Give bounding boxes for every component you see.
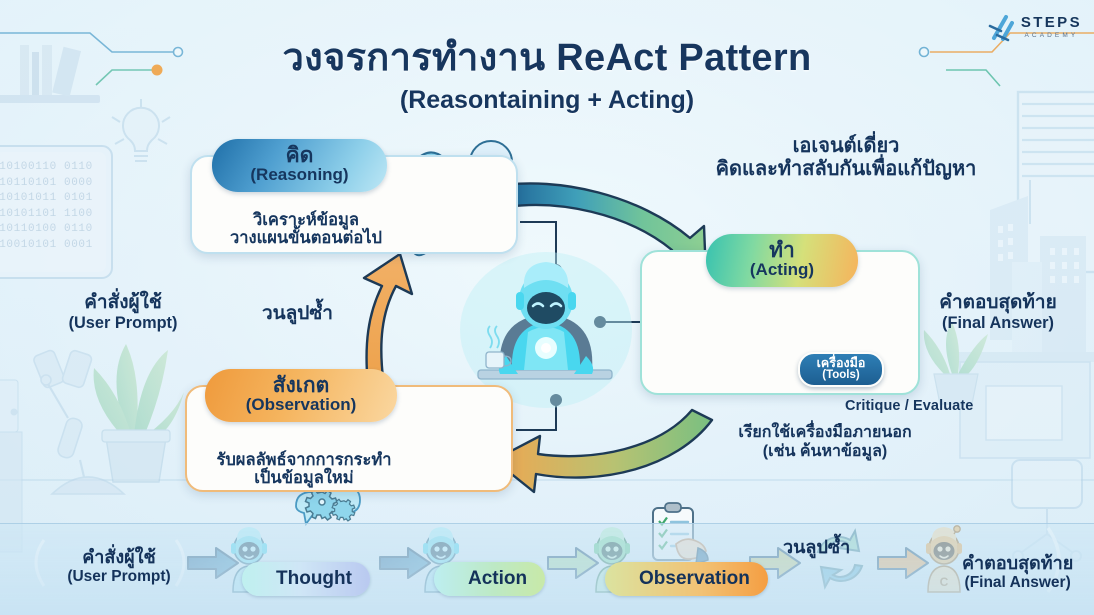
flow-user-prompt-th: คำสั่งผู้ใช้ — [56, 548, 182, 568]
flow-user-prompt: คำสั่งผู้ใช้ (User Prompt) — [56, 548, 182, 585]
annotation-single-agent-line1: เอเจนต์เดี่ยว — [660, 135, 1032, 158]
annotation-final-answer-en: (Final Answer) — [908, 314, 1088, 333]
page-title: วงจรการทำงาน ReAct Pattern — [0, 26, 1094, 87]
tools-badge-en: (Tools) — [804, 370, 878, 382]
annotation-single-agent-line2: คิดและทำสลับกันเพื่อแก้ปัญหา — [660, 158, 1032, 181]
annotation-critique: Critique / Evaluate — [845, 398, 1045, 415]
node-desc-observation: รับผลลัพธ์จากการกระทำ เป็นข้อมูลใหม่ — [193, 451, 415, 488]
node-desc-reasoning-line1: วิเคราะห์ข้อมูล — [206, 211, 406, 229]
flow-strip: คำสั่งผู้ใช้ (User Prompt) Thought Actio… — [0, 523, 1094, 615]
flow-final-answer: คำตอบสุดท้าย (Final Answer) — [962, 554, 1073, 591]
annotation-tools-note-line2: (เช่น ค้นหาข้อมูล) — [700, 443, 950, 462]
annotation-user-prompt-en: (User Prompt) — [28, 314, 218, 333]
node-pill-acting: ทำ (Acting) — [706, 234, 858, 287]
annotation-user-prompt-th: คำสั่งผู้ใช้ — [28, 292, 218, 314]
flow-chip-observation-label: Observation — [639, 568, 750, 590]
tools-badge-th: เครื่องมือ — [804, 357, 878, 370]
page-subtitle: (Reasontaining + Acting) — [0, 86, 1094, 115]
node-pill-reasoning-en: (Reasoning) — [238, 166, 361, 183]
node-card-reasoning: คิด (Reasoning) วิเคราะห์ข้อมูล วางแผนขั… — [190, 155, 518, 254]
flow-final-answer-th: คำตอบสุดท้าย — [962, 554, 1073, 574]
node-pill-reasoning-th: คิด — [238, 145, 361, 166]
node-pill-acting-th: ทำ — [732, 240, 832, 261]
flow-final-answer-en: (Final Answer) — [962, 574, 1073, 591]
binary-screen-icon — [0, 146, 112, 278]
node-desc-reasoning: วิเคราะห์ข้อมูล วางแผนขั้นตอนต่อไป — [206, 211, 406, 248]
flow-chip-action: Action — [434, 562, 545, 596]
flow-chip-action-label: Action — [468, 568, 527, 590]
flow-user-prompt-en: (User Prompt) — [56, 568, 182, 585]
node-card-observation: สังเกต (Observation) รับผลลัพธ์จากการกระ… — [185, 385, 513, 492]
annotation-user-prompt: คำสั่งผู้ใช้ (User Prompt) — [28, 292, 218, 333]
annotation-single-agent: เอเจนต์เดี่ยว คิดและทำสลับกันเพื่อแก้ปัญ… — [660, 135, 1032, 181]
annotation-tools-note: เรียกใช้เครื่องมือภายนอก (เช่น ค้นหาข้อม… — [700, 424, 950, 461]
flow-chip-thought-label: Thought — [276, 568, 352, 590]
node-pill-acting-en: (Acting) — [732, 261, 832, 278]
node-desc-observation-line1: รับผลลัพธ์จากการกระทำ — [193, 451, 415, 469]
annotation-final-answer-th: คำตอบสุดท้าย — [908, 292, 1088, 314]
node-pill-observation-th: สังเกต — [231, 375, 371, 396]
annotation-final-answer: คำตอบสุดท้าย (Final Answer) — [908, 292, 1088, 333]
node-pill-observation: สังเกต (Observation) — [205, 369, 397, 422]
annotation-tools-note-line1: เรียกใช้เครื่องมือภายนอก — [700, 424, 950, 443]
tools-badge: เครื่องมือ (Tools) — [798, 352, 884, 387]
flow-chip-observation: Observation — [605, 562, 768, 596]
flow-loop-label: วนลูปซ้ำ — [783, 532, 850, 561]
node-desc-observation-line2: เป็นข้อมูลใหม่ — [193, 469, 415, 487]
node-pill-observation-en: (Observation) — [231, 396, 371, 413]
annotation-loop: วนลูปซ้ำ — [262, 303, 333, 325]
node-desc-reasoning-line2: วางแผนขั้นตอนต่อไป — [206, 229, 406, 247]
infographic-canvas: ? — [0, 0, 1094, 615]
flow-chip-thought: Thought — [242, 562, 370, 596]
node-pill-reasoning: คิด (Reasoning) — [212, 139, 387, 192]
